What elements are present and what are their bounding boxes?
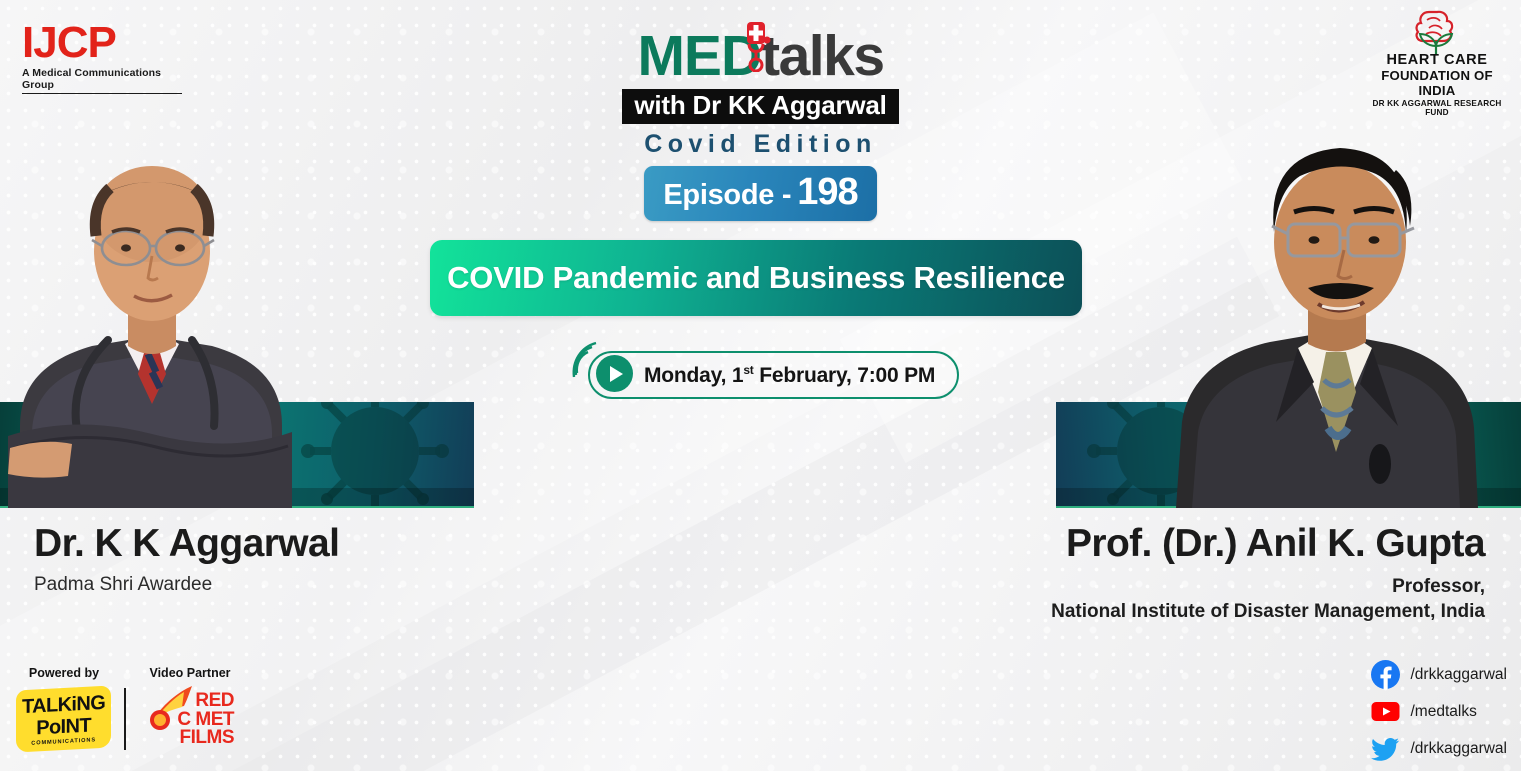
episode-label: Episode - xyxy=(663,179,791,212)
social-links: /drkkaggarwal /medtalks /drkkaggarwal xyxy=(1371,660,1508,763)
facebook-handle[interactable]: /drkkaggarwal xyxy=(1411,666,1508,684)
youtube-icon[interactable] xyxy=(1371,697,1400,726)
talking-point-line-1: TALKiNG xyxy=(22,693,105,717)
schedule-pill: Monday, 1st February, 7:00 PM xyxy=(588,351,959,399)
red-comet-line-3: FILMS xyxy=(177,729,234,748)
social-row-twitter[interactable]: /drkkaggarwal xyxy=(1371,734,1508,763)
topic-title: COVID Pandemic and Business Resilience xyxy=(447,260,1065,296)
speaker-name: Dr. K K Aggarwal xyxy=(34,522,339,566)
powered-by-caption: Powered by xyxy=(14,666,114,680)
red-comet-films-logo: RED C MET FILMS xyxy=(140,688,232,752)
play-icon[interactable] xyxy=(596,355,633,392)
facebook-icon[interactable] xyxy=(1371,660,1400,689)
speaker-name-block-left: Dr. K K Aggarwal Padma Shri Awardee xyxy=(34,522,339,596)
red-comet-line-1: RED xyxy=(177,692,234,711)
speaker-photo-right xyxy=(1148,92,1498,508)
video-partner-caption: Video Partner xyxy=(140,666,240,680)
twitter-handle[interactable]: /drkkaggarwal xyxy=(1411,740,1508,758)
speaker-subtitle: Padma Shri Awardee xyxy=(34,574,339,596)
medtalks-talks: talks xyxy=(761,28,883,85)
schedule-block: Monday, 1st February, 7:00 PM xyxy=(566,339,946,405)
talking-point-logo: TALKiNG PoINT COMMUNICATIONS xyxy=(16,686,111,753)
promo-poster: IJCP A Medical Communications Group HEAR… xyxy=(0,0,1521,771)
video-partner-column: Video Partner RED C MET FILMS xyxy=(140,666,240,752)
social-row-facebook[interactable]: /drkkaggarwal xyxy=(1371,660,1508,689)
social-row-youtube[interactable]: /medtalks xyxy=(1371,697,1508,726)
red-comet-text: RED C MET FILMS xyxy=(177,692,234,748)
medtalks-logo: MED talks xyxy=(637,26,883,86)
edition-label: Covid Edition xyxy=(644,130,877,159)
host-bar: with Dr KK Aggarwal xyxy=(622,89,898,124)
schedule-text: Monday, 1st February, 7:00 PM xyxy=(644,363,935,388)
topic-banner: COVID Pandemic and Business Resilience xyxy=(430,240,1082,316)
episode-badge: Episode - 198 xyxy=(644,166,876,221)
episode-number: 198 xyxy=(797,171,857,214)
speaker-subtitle-line-2: National Institute of Disaster Managemen… xyxy=(1051,599,1485,624)
speaker-name-block-right: Prof. (Dr.) Anil K. Gupta Professor, Nat… xyxy=(1051,522,1485,624)
speaker-subtitle-line-1: Professor, xyxy=(1051,574,1485,599)
talking-point-line-2: PoINT xyxy=(22,715,105,740)
speaker-name: Prof. (Dr.) Anil K. Gupta xyxy=(1051,522,1485,566)
twitter-icon[interactable] xyxy=(1371,734,1400,763)
speaker-subtitle: Professor, National Institute of Disaste… xyxy=(1051,574,1485,624)
powered-by-column: Powered by TALKiNG PoINT COMMUNICATIONS xyxy=(14,666,114,750)
speaker-photo-left xyxy=(0,96,320,508)
partners-block: Powered by TALKiNG PoINT COMMUNICATIONS … xyxy=(14,666,240,752)
partner-divider xyxy=(124,688,126,750)
stethoscope-icon xyxy=(733,20,779,72)
youtube-handle[interactable]: /medtalks xyxy=(1411,703,1477,721)
